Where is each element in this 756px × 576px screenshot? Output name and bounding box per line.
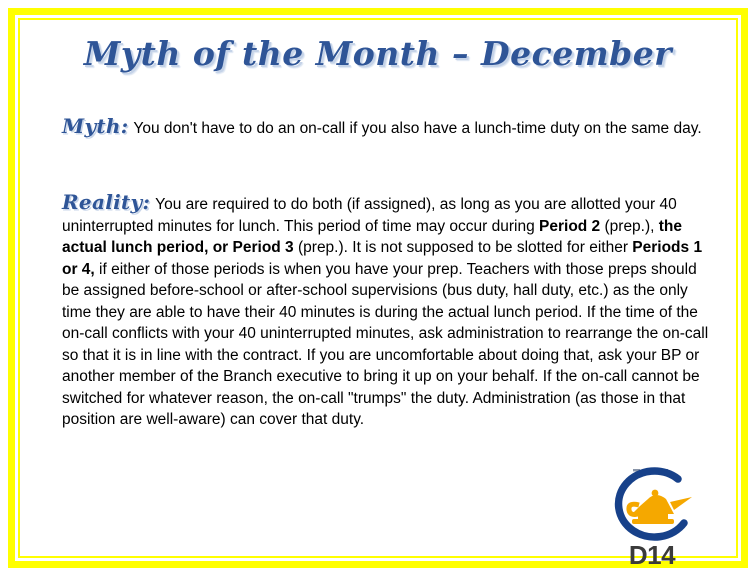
reality-bold-period-2: Period 2 — [539, 218, 600, 235]
myth-text: You don't have to do an on-call if you a… — [133, 120, 701, 137]
poster-frame: Myth of the Month – December Myth:You do… — [8, 8, 748, 568]
reality-block: Reality:You are required to do both (if … — [62, 192, 710, 431]
reality-label: Reality: — [62, 190, 150, 214]
d14-logo-label: D14 — [592, 540, 712, 571]
poster-inner-border: Myth of the Month – December Myth:You do… — [18, 18, 738, 558]
myth-label: Myth: — [62, 114, 128, 138]
reality-text-part-3: (prep.). It is not supposed to be slotte… — [294, 239, 633, 256]
reality-text-part-4: if either of those periods is when you h… — [62, 261, 708, 429]
lamp-icon — [592, 466, 712, 546]
page-title: Myth of the Month – December — [20, 34, 736, 73]
myth-block: Myth:You don't have to do an on-call if … — [62, 116, 710, 140]
poster-content: Myth of the Month – December Myth:You do… — [20, 20, 736, 556]
d14-logo: D14 — [592, 466, 712, 574]
reality-text-part-2: (prep.), — [600, 218, 659, 235]
